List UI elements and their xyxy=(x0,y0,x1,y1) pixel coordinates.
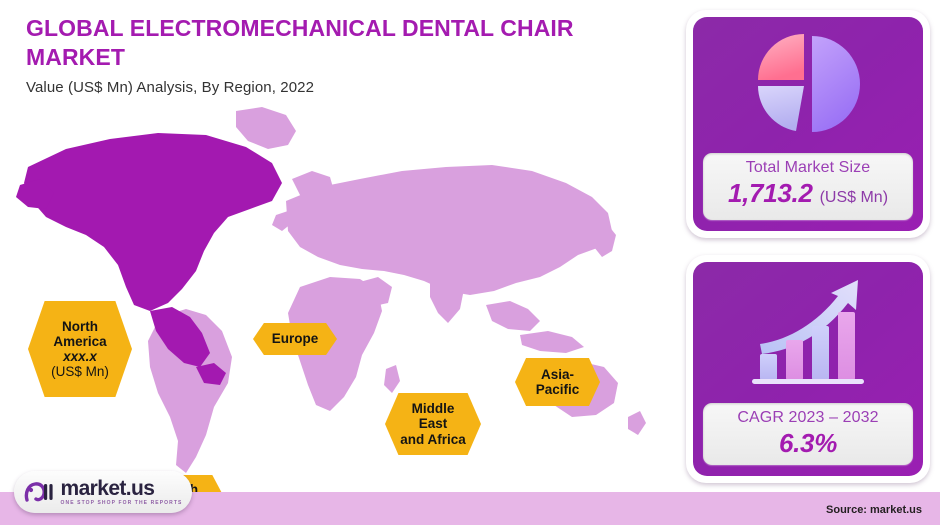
map-label-europe[interactable]: Europe xyxy=(253,323,337,355)
card-inner: Total Market Size 1,713.2 (US$ Mn) xyxy=(693,17,923,231)
map-label-middle-east-and-africa[interactable]: Middle East and Africa xyxy=(385,393,481,455)
total-market-size-card[interactable]: Total Market Size 1,713.2 (US$ Mn) xyxy=(686,10,930,238)
market-us-logo[interactable]: market.us ONE STOP SHOP FOR THE REPORTS xyxy=(14,471,192,513)
cagr-label: CAGR 2023 – 2032 xyxy=(705,408,911,428)
total-market-size-value-box: Total Market Size 1,713.2 (US$ Mn) xyxy=(703,153,913,220)
map-label-value: xxx.x xyxy=(63,349,97,364)
market-us-logo-icon xyxy=(24,479,54,505)
bar-chart-growth-icon xyxy=(738,274,878,392)
map-label-unit: (US$ Mn) xyxy=(51,364,109,379)
bar-3 xyxy=(812,326,829,380)
map-label-north-america[interactable]: North America xxx.x (US$ Mn) xyxy=(28,301,132,397)
value-unit: (US$ Mn) xyxy=(820,189,888,206)
bar-4 xyxy=(838,312,855,380)
bar-1 xyxy=(760,354,777,380)
total-market-size-value: 1,713.2 (US$ Mn) xyxy=(705,178,911,213)
page-title: GLOBAL ELECTROMECHANICAL DENTAL CHAIR MA… xyxy=(26,14,646,72)
map-label-line2: East xyxy=(419,416,448,431)
map-label-line1: Middle xyxy=(412,401,455,416)
cagr-card[interactable]: CAGR 2023 – 2032 6.3% xyxy=(686,255,930,483)
map-label-asia-pacific[interactable]: Asia- Pacific xyxy=(515,358,600,406)
logo-text-wrap: market.us ONE STOP SHOP FOR THE REPORTS xyxy=(61,478,183,507)
map-label-line2: Pacific xyxy=(536,382,580,397)
logo-wordmark: market.us xyxy=(61,478,155,499)
total-market-size-label: Total Market Size xyxy=(705,158,911,178)
chart-baseline xyxy=(752,379,864,384)
logo-tagline: ONE STOP SHOP FOR THE REPORTS xyxy=(61,499,183,507)
cagr-value: 6.3% xyxy=(705,428,911,458)
map-label-line1: North xyxy=(62,319,98,334)
map-label-line1: Europe xyxy=(272,331,319,346)
card-inner: CAGR 2023 – 2032 6.3% xyxy=(693,262,923,476)
map-label-line3: and Africa xyxy=(400,432,466,447)
world-map-svg xyxy=(0,105,676,485)
value-number: 1,713.2 xyxy=(728,178,813,208)
map-label-line1: Asia- xyxy=(541,367,574,382)
map-label-line2: America xyxy=(53,334,106,349)
growth-chart-icon-area xyxy=(693,262,923,403)
bar-2 xyxy=(786,340,803,380)
header: GLOBAL ELECTROMECHANICAL DENTAL CHAIR MA… xyxy=(26,14,646,97)
source-attribution: Source: market.us xyxy=(826,504,922,516)
pie-chart-icon-area xyxy=(693,17,923,153)
world-map: North America xxx.x (US$ Mn) Europe Midd… xyxy=(0,105,676,485)
pie-chart-icon xyxy=(748,26,868,144)
page-subtitle: Value (US$ Mn) Analysis, By Region, 2022 xyxy=(26,78,646,97)
cagr-value-box: CAGR 2023 – 2032 6.3% xyxy=(703,403,913,465)
